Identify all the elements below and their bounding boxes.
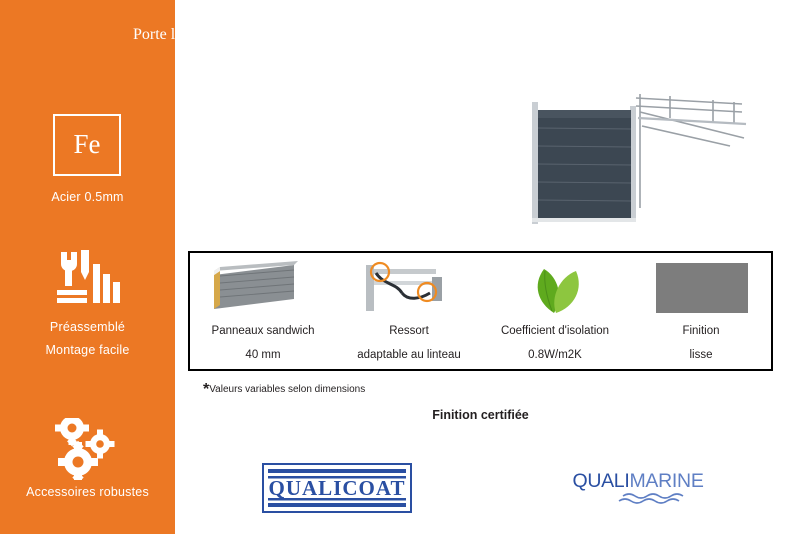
feature-label-ressort: Ressort xyxy=(336,325,482,337)
page-title-rest: orte levante finition aluminium xyxy=(142,26,342,43)
qualimarine-bold-part: QUALI xyxy=(572,470,629,492)
qualimarine-waves-icon xyxy=(563,492,713,506)
footnote-text: Valeurs variables selon dimensions xyxy=(209,384,365,395)
feature-label-finition: Finition xyxy=(628,325,774,337)
fe-symbol-label: Fe xyxy=(53,114,121,176)
qualicoat-logo: QUALICOAT xyxy=(262,463,412,513)
green-leaves-icon xyxy=(482,259,628,317)
qualimarine-wordmark: QUALIMARINE xyxy=(563,470,713,493)
sidebar-caption-acier: Acier 0.5mm xyxy=(0,188,175,207)
qualimarine-light-part: MARINE xyxy=(629,470,703,492)
feature-label-panneaux: Panneaux sandwich xyxy=(190,325,336,337)
feature-value-isolation: 0.8W/m2K xyxy=(482,349,628,361)
spring-mechanism-icon xyxy=(336,259,482,317)
sidebar-caption-accessoires: Accessoires robustes xyxy=(0,483,175,502)
feature-column-ressort: Ressort adaptable au linteau xyxy=(336,253,482,371)
finish-swatch-icon xyxy=(628,259,774,317)
footnote: *Valeurs variables selon dimensions xyxy=(203,381,365,399)
sidebar-caption-montage: Montage facile xyxy=(0,341,175,360)
qualimarine-logo: QUALIMARINE xyxy=(563,470,713,508)
feature-value-finition: lisse xyxy=(628,349,774,361)
feature-label-isolation: Coefficient d'isolation xyxy=(482,325,628,337)
sidebar-caption-preassemble: Préassemblé xyxy=(0,318,175,337)
feature-column-panneaux: Panneaux sandwich 40 mm xyxy=(190,253,336,371)
feature-column-isolation: Coefficient d'isolation 0.8W/m2K xyxy=(482,253,628,371)
gears-icon xyxy=(52,418,124,480)
feature-box: Panneaux sandwich 40 mm Ressort adaptabl… xyxy=(188,251,773,371)
tools-icon xyxy=(55,248,121,306)
certification-label: Finition certifiée xyxy=(188,408,773,422)
feature-value-ressort: adaptable au linteau xyxy=(336,349,482,361)
page-title-initial: P xyxy=(133,26,142,43)
feature-value-panneaux: 40 mm xyxy=(190,349,336,361)
qualicoat-wordmark: QUALICOAT xyxy=(264,465,410,511)
feature-column-finition: Finition lisse xyxy=(628,253,774,371)
sandwich-panel-icon xyxy=(190,259,336,317)
poster-page: Fe Acier 0.5mm Préassemblé Montage facil… xyxy=(0,0,800,534)
garage-door-photo xyxy=(518,88,748,233)
page-title: Porte levante finition aluminium xyxy=(133,26,341,44)
